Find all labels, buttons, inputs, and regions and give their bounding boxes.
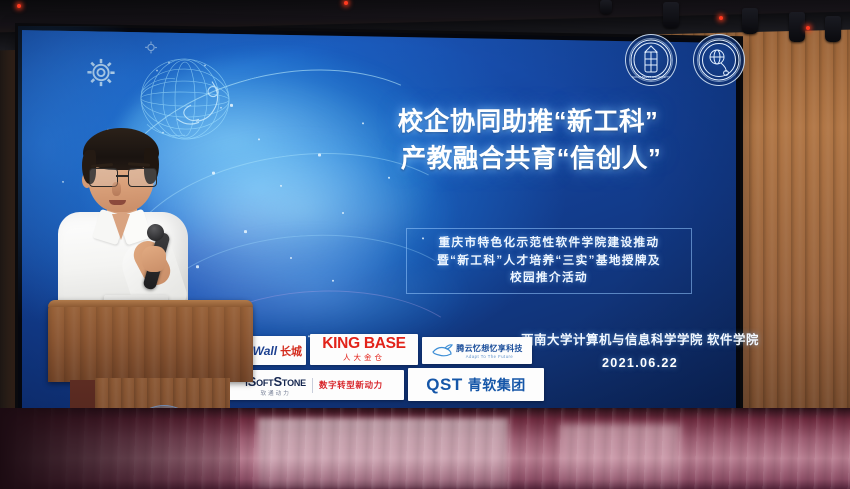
isoftstone-tagline: 数字转型新动力 [319,379,383,391]
title-line-1: 校企协同助推“新工科” [358,104,698,141]
computer-information-science-seal [693,34,745,86]
logo-divider [312,378,313,393]
speaker-nose [112,182,121,196]
sponsor-logo-row: eat Wall 长城 KING BASE 人大金仓 腾云忆想忆享科技 Adap… [228,334,548,406]
title-line-2: 产教融合共育“信创人” [364,141,698,178]
lectern-top [48,300,253,382]
speaker-hand [142,246,166,272]
qst-cn: 青软集团 [468,375,526,395]
institution-emblems: SOUTHWEST UNIVERSITY [625,32,805,88]
kingbase-cn: 人大金仓 [322,352,405,363]
sponsor-logo-qst: QST 青软集团 [408,368,544,401]
kingbase-en: KING BASE [322,337,405,351]
indicator-led [344,1,348,5]
sponsor-logo-tengyun: 腾云忆想忆享科技 Adapt To The Future [422,337,532,364]
subtitle-line-2: 暨“新工科”人才培养“三实”基地授牌及 [413,252,685,270]
subtitle-line-1: 重庆市特色化示范性软件学院建设推动 [413,234,685,252]
stage-light-icon [742,8,758,34]
floor-shadow [0,408,240,489]
indicator-led [17,4,21,8]
lectern-top-edge [48,300,253,307]
indicator-led [719,16,723,20]
eyeglasses-icon [88,168,156,186]
whale-icon [431,343,453,359]
great-wall-cn: 长城 [280,343,302,359]
screen-subtitle-box: 重庆市特色化示范性软件学院建设推动 暨“新工科”人才培养“三实”基地授牌及 校园… [406,228,692,294]
tengyun-en: Adapt To The Future [456,354,522,359]
screen-main-title: 校企协同助推“新工科” 产教融合共育“信创人” [358,104,698,178]
stage-light-icon [600,0,612,14]
speaker-mouth [109,200,126,205]
isoftstone-en: iSoftStone [245,374,306,389]
stage-light-icon [663,2,679,28]
conference-photo-stage: SOUTHWEST UNIVERSITY 校企协同助推“新工科” 产教融合共育“… [0,0,850,489]
svg-text:SOUTHWEST UNIVERSITY: SOUTHWEST UNIVERSITY [632,75,670,79]
sponsor-logo-kingbase: KING BASE 人大金仓 [310,334,418,365]
qst-en: QST [426,375,462,395]
subtitle-line-3: 校园推介活动 [413,269,685,287]
tengyun-cn: 腾云忆想忆享科技 [456,343,522,354]
isoftstone-cn: 软通动力 [245,389,306,397]
indicator-led [806,26,810,30]
stage-light-icon [825,16,841,42]
southwest-university-seal: SOUTHWEST UNIVERSITY [625,34,677,86]
